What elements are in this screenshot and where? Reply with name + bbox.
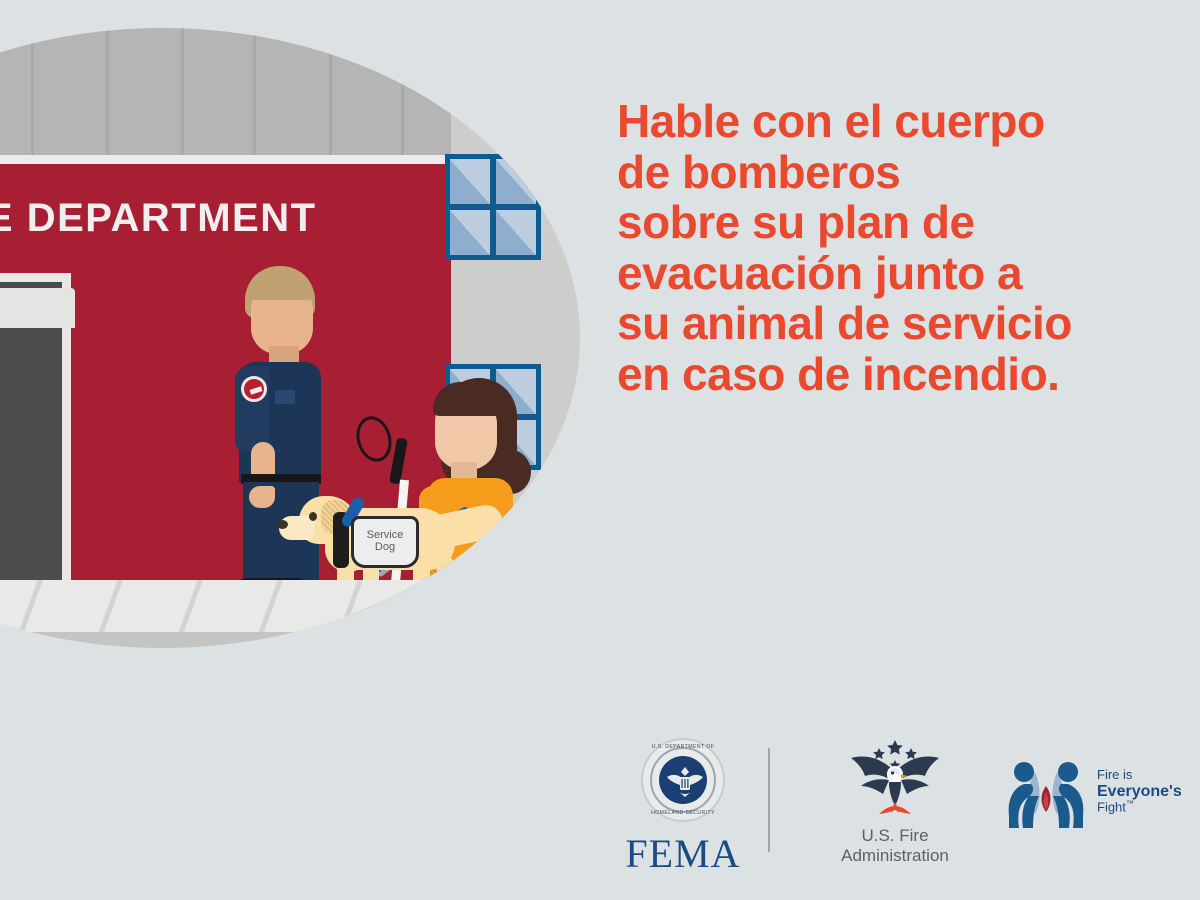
fief-people-flame-icon [1005, 756, 1087, 830]
fire-department-sign: FIRE DEPARTMENT [0, 196, 397, 241]
headline-line: en caso de incendio. [617, 349, 1177, 400]
illustration-circle-mask: FIRE DEPARTMENT [0, 28, 580, 648]
fief-label-line2: Everyone's [1097, 783, 1182, 801]
service-dog-vest: Service Dog [351, 516, 419, 568]
fief-label-line1: Fire is [1097, 768, 1182, 783]
trademark-symbol: ™ [1126, 799, 1134, 808]
dhs-eagle-icon [665, 764, 705, 798]
headline: Hable con el cuerpo de bomberos sobre su… [617, 96, 1177, 400]
headline-line: Hable con el cuerpo [617, 96, 1177, 147]
window-pane [450, 210, 490, 255]
headline-line: su animal de servicio [617, 298, 1177, 349]
illustration: FIRE DEPARTMENT [0, 28, 580, 648]
dog-eye [309, 512, 317, 521]
usfa-label-line1: U.S. Fire [800, 826, 990, 846]
usfa-logo: U.S. Fire Administration [800, 736, 990, 866]
headline-line: de bomberos [617, 147, 1177, 198]
headline-line: evacuación junto a [617, 248, 1177, 299]
vest-label-line2: Dog [375, 542, 395, 554]
window-pane [450, 159, 490, 204]
usfa-label-line2: Administration [800, 846, 990, 866]
curb [0, 632, 580, 648]
seal-bottom-text: HOMELAND SECURITY [643, 810, 723, 816]
dog-nose [277, 520, 288, 529]
station-roof-band [0, 28, 451, 155]
fire-is-everyones-fight-logo: Fire is Everyone's Fight™ [1005, 756, 1181, 836]
fema-logo: U.S. DEPARTMENT OF HOMELAND SECURITY FEM… [608, 738, 758, 877]
seal-top-text: U.S. DEPARTMENT OF [643, 744, 723, 750]
firefighter-hair [247, 268, 313, 300]
fire-engine [0, 270, 65, 615]
fire-station-scene: FIRE DEPARTMENT [0, 28, 580, 648]
window-pane [496, 210, 536, 255]
window-pane [496, 159, 536, 204]
fema-wordmark: FEMA [608, 830, 758, 877]
logo-bar: U.S. DEPARTMENT OF HOMELAND SECURITY FEM… [600, 730, 1180, 870]
radio-icon [275, 390, 295, 404]
fief-label-line3: Fight [1097, 800, 1126, 815]
usfa-eagle-icon [800, 736, 990, 824]
logo-divider [768, 748, 770, 852]
station-roof-cap [0, 155, 451, 164]
maltese-cross-patch-icon [241, 376, 267, 402]
poster-canvas: FIRE DEPARTMENT [0, 0, 1200, 900]
dhs-seal-icon: U.S. DEPARTMENT OF HOMELAND SECURITY [641, 738, 725, 822]
headline-line: sobre su plan de [617, 197, 1177, 248]
station-window-upper [445, 154, 541, 260]
